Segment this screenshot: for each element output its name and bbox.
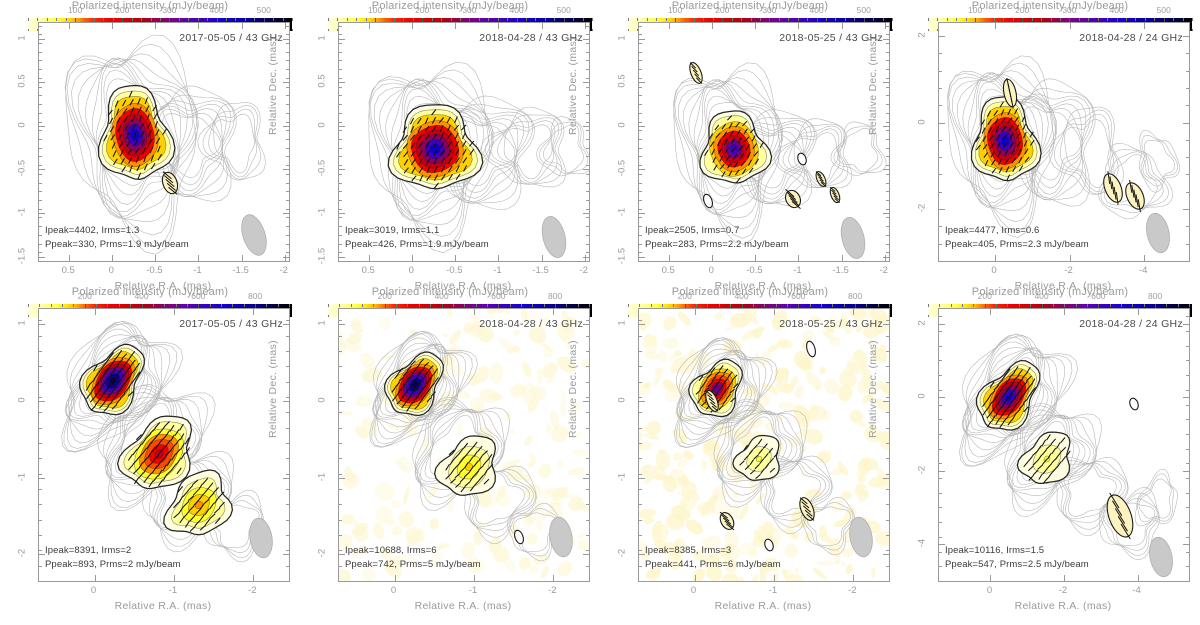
- x-axis-label: Relative R.A. (mas): [1015, 600, 1112, 612]
- x-tick-label: -1: [169, 585, 177, 596]
- colorbar-top-title: Polarized intensity (mJy/beam): [0, 0, 300, 12]
- figure-canvas: 100200300400500Polarized intensity (mJy/…: [0, 0, 1200, 625]
- panel-stats-p2: Ipeak=3019, Irms=1.1Ppeak=426, Prms=1.9 …: [345, 224, 489, 252]
- y-tick-label: -1: [317, 472, 328, 480]
- panel-stats-p8: Ipeak=10116, Irms=1.5Ppeak=547, Prms=2.5…: [945, 544, 1089, 572]
- x-tick-label: -0.5: [446, 265, 462, 276]
- stats-line-2: Ppeak=742, Prms=5 mJy/beam: [345, 558, 481, 572]
- stats-line-2: Ppeak=330, Prms=1.9 mJy/beam: [45, 238, 189, 252]
- sky-map-p7: [639, 309, 889, 581]
- beam-ellipse: [1146, 535, 1176, 579]
- y-tick-label: 0: [317, 122, 328, 127]
- y-axis-label: Relative Dec. (mas): [267, 340, 279, 438]
- x-axis-label: Relative R.A. (mas): [715, 280, 812, 292]
- y-tick-label: 0.5: [617, 75, 628, 88]
- stats-line-1: Ipeak=4402, Irms=1.3: [45, 224, 189, 238]
- y-tick-label: 1: [617, 321, 628, 326]
- stats-line-2: Ppeak=441, Prms=6 mJy/beam: [645, 558, 781, 572]
- x-axis-label: Relative R.A. (mas): [115, 280, 212, 292]
- beam-ellipse: [1143, 211, 1173, 255]
- plot-panel-p5[interactable]: [38, 308, 290, 582]
- polarized-knot: [513, 529, 525, 545]
- y-axis-label: Relative Dec. (mas): [267, 37, 279, 135]
- x-tick-label: -2: [879, 265, 887, 276]
- x-tick-label: -1.5: [232, 265, 248, 276]
- polarized-intensity-blob: [118, 416, 192, 488]
- y-tick-label: -2: [17, 549, 28, 557]
- y-tick-label: -1: [317, 208, 328, 216]
- plot-panel-p6[interactable]: [338, 308, 590, 582]
- colorbar-top-1-title: Polarized intensity (mJy/beam): [300, 0, 600, 12]
- stats-line-1: Ipeak=4477, Irms=0.6: [945, 224, 1089, 238]
- stats-line-2: Ppeak=547, Prms=2.5 mJy/beam: [945, 558, 1089, 572]
- x-tick-label: 0: [691, 585, 696, 596]
- y-axis-label: Relative Dec. (mas): [867, 37, 879, 135]
- panel-title-p7: 2018-05-25 / 43 GHz: [779, 318, 883, 330]
- y-tick-label: -1: [617, 208, 628, 216]
- sky-map-p8: [939, 309, 1189, 581]
- panel-title-p4: 2018-04-28 / 24 GHz: [1079, 32, 1183, 44]
- polarized-knot: [814, 170, 828, 188]
- panel-stats-p4: Ipeak=4477, Irms=0.6Ppeak=405, Prms=2.3 …: [945, 224, 1089, 252]
- stats-line-2: Ppeak=426, Prms=1.9 mJy/beam: [345, 238, 489, 252]
- x-tick-label: -2: [248, 585, 256, 596]
- plot-panel-p8[interactable]: [938, 308, 1190, 582]
- x-tick-label: -1: [769, 585, 777, 596]
- y-tick-label: 0: [17, 397, 28, 402]
- stats-line-2: Ppeak=405, Prms=2.3 mJy/beam: [945, 238, 1089, 252]
- x-tick-label: 0: [409, 265, 414, 276]
- x-tick-label: -2: [848, 585, 856, 596]
- polarized-knot: [687, 61, 705, 85]
- y-tick-label: -2: [617, 549, 628, 557]
- y-tick-label: -0.5: [17, 160, 28, 176]
- panel-title-p5: 2017-05-05 / 43 GHz: [179, 318, 283, 330]
- polarized-knot: [1122, 180, 1148, 212]
- polarized-intensity-blob: [972, 97, 1042, 181]
- y-tick-label: 1: [317, 35, 328, 40]
- x-tick-label: -1: [493, 265, 501, 276]
- x-tick-label: -2: [579, 265, 587, 276]
- x-tick-label: -1: [793, 265, 801, 276]
- y-axis-label: Relative Dec. (mas): [567, 340, 579, 438]
- polarized-knot: [828, 186, 841, 204]
- x-axis-label: Relative R.A. (mas): [1015, 280, 1112, 292]
- y-tick-label: 1: [17, 321, 28, 326]
- y-axis-label: Relative Dec. (mas): [867, 340, 879, 438]
- sky-map-p5: [39, 309, 289, 581]
- polarized-knot: [702, 193, 714, 209]
- x-tick-label: -1: [193, 265, 201, 276]
- x-tick-label: -0.5: [146, 265, 162, 276]
- x-tick-label: -1.5: [532, 265, 548, 276]
- stats-line-1: Ipeak=10688, Irms=6: [345, 544, 481, 558]
- panel-title-p8: 2018-04-28 / 24 GHz: [1079, 318, 1183, 330]
- x-tick-label: 0.5: [62, 265, 75, 276]
- polarized-intensity-blob: [99, 86, 175, 180]
- beam-ellipse: [547, 515, 576, 558]
- y-tick-label: -2: [917, 465, 928, 473]
- x-tick-label: 0: [109, 265, 114, 276]
- stats-line-1: Ipeak=8391, Irms=2: [45, 544, 181, 558]
- x-tick-label: -2: [548, 585, 556, 596]
- x-tick-label: -4: [1139, 265, 1147, 276]
- colorbar-top-3-title: Polarized intensity (mJy/beam): [900, 0, 1200, 12]
- polarized-knot: [1128, 397, 1140, 411]
- colorbar-top-2-title: Polarized intensity (mJy/beam): [600, 0, 900, 12]
- y-tick-label: -1: [17, 208, 28, 216]
- x-tick-label: 0: [91, 585, 96, 596]
- x-tick-label: 0: [391, 585, 396, 596]
- y-tick-label: -1.5: [617, 247, 628, 263]
- y-tick-label: -1: [617, 472, 628, 480]
- stats-line-1: Ipeak=10116, Irms=1.5: [945, 544, 1089, 558]
- x-axis-label: Relative R.A. (mas): [715, 600, 812, 612]
- x-tick-label: 0: [991, 265, 996, 276]
- y-tick-label: -0.5: [317, 160, 328, 176]
- y-axis-label: Relative Dec. (mas): [567, 37, 579, 135]
- x-tick-label: 0: [987, 585, 992, 596]
- x-tick-label: -0.5: [746, 265, 762, 276]
- x-axis-label: Relative R.A. (mas): [115, 600, 212, 612]
- y-tick-label: -2: [917, 204, 928, 212]
- y-tick-label: 0: [617, 122, 628, 127]
- y-tick-label: -1: [17, 472, 28, 480]
- stats-line-2: Ppeak=893, Prms=2 mJy/beam: [45, 558, 181, 572]
- stats-line-1: Ipeak=2505, Irms=0.7: [645, 224, 789, 238]
- y-tick-label: 2: [917, 32, 928, 37]
- y-tick-label: 0: [617, 397, 628, 402]
- panel-stats-p3: Ipeak=2505, Irms=0.7Ppeak=283, Prms=2.2 …: [645, 224, 789, 252]
- polarized-knot: [1102, 492, 1138, 541]
- y-tick-label: 1: [17, 35, 28, 40]
- x-tick-label: -1.5: [832, 265, 848, 276]
- x-tick-label: 0.5: [362, 265, 375, 276]
- y-tick-label: 2: [917, 320, 928, 325]
- x-tick-label: -2: [1059, 585, 1067, 596]
- x-tick-label: -1: [469, 585, 477, 596]
- beam-ellipse: [538, 214, 570, 260]
- x-tick-label: -2: [279, 265, 287, 276]
- y-tick-label: 0: [17, 122, 28, 127]
- y-tick-label: 0.5: [17, 75, 28, 88]
- sky-map-p6: [339, 309, 589, 581]
- stats-line-1: Ipeak=3019, Irms=1.1: [345, 224, 489, 238]
- beam-ellipse: [237, 212, 271, 259]
- y-tick-label: 0: [917, 394, 928, 399]
- panel-stats-p7: Ipeak=8385, Irms=3Ppeak=441, Prms=6 mJy/…: [645, 544, 781, 572]
- y-tick-label: 0: [917, 119, 928, 124]
- x-axis-label: Relative R.A. (mas): [415, 600, 512, 612]
- beam-ellipse: [247, 516, 276, 559]
- y-tick-label: -1.5: [317, 247, 328, 263]
- panel-stats-p5: Ipeak=8391, Irms=2Ppeak=893, Prms=2 mJy/…: [45, 544, 181, 572]
- panel-title-p6: 2018-04-28 / 43 GHz: [479, 318, 583, 330]
- x-tick-label: 0.5: [662, 265, 675, 276]
- panel-stats-p6: Ipeak=10688, Irms=6Ppeak=742, Prms=5 mJy…: [345, 544, 481, 572]
- x-tick-label: -2: [1064, 265, 1072, 276]
- x-axis-label: Relative R.A. (mas): [415, 280, 512, 292]
- y-tick-label: -1.5: [17, 247, 28, 263]
- y-tick-label: 1: [317, 321, 328, 326]
- plot-panel-p7[interactable]: [638, 308, 890, 582]
- x-tick-label: -4: [1132, 585, 1140, 596]
- stats-line-1: Ipeak=8385, Irms=3: [645, 544, 781, 558]
- y-tick-label: -0.5: [617, 160, 628, 176]
- y-tick-label: -2: [317, 549, 328, 557]
- x-tick-label: 0: [709, 265, 714, 276]
- y-tick-label: 0: [317, 397, 328, 402]
- beam-ellipse: [837, 215, 869, 261]
- y-tick-label: -4: [917, 539, 928, 547]
- y-tick-label: 1: [617, 35, 628, 40]
- stats-line-2: Ppeak=283, Prms=2.2 mJy/beam: [645, 238, 789, 252]
- y-tick-label: 0.5: [317, 75, 328, 88]
- panel-stats-p1: Ipeak=4402, Irms=1.3Ppeak=330, Prms=1.9 …: [45, 224, 189, 252]
- polarized-intensity-blob: [1017, 432, 1070, 483]
